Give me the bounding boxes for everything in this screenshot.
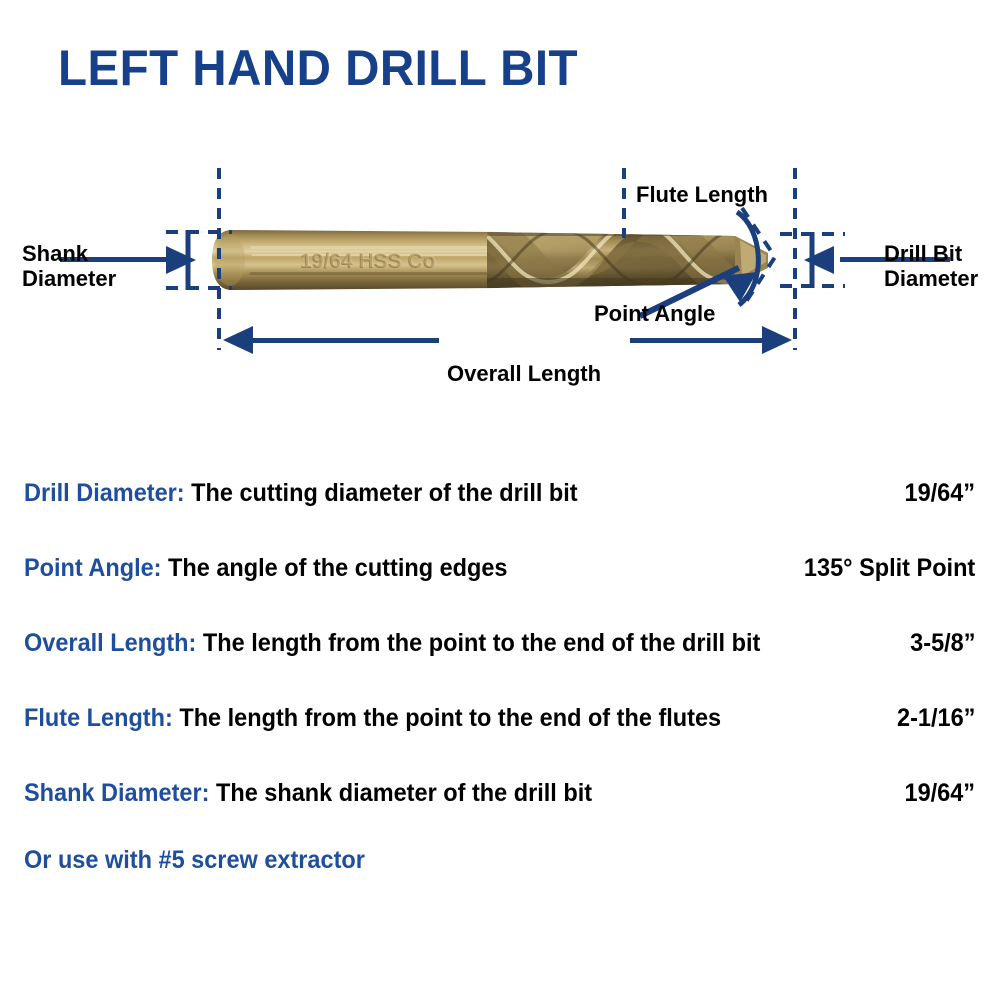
spec-text: Shank Diameter: The shank diameter of th… [24, 778, 592, 808]
spec-description: The angle of the cutting edges [168, 554, 507, 582]
spec-label: Shank Diameter: [24, 779, 209, 807]
spec-description: The length from the point to the end of … [179, 704, 721, 732]
drill-bit-diagram: 19/64 HSS Co 19/64 HSS Co [0, 150, 1000, 410]
spec-label: Overall Length: [24, 629, 196, 657]
spec-description: The cutting diameter of the drill bit [191, 479, 577, 507]
spec-text: Overall Length: The length from the poin… [24, 628, 760, 658]
label-drill-bit-diameter: Drill Bit Diameter [884, 242, 978, 291]
overall-length-arrowhead-left [223, 326, 253, 354]
drill-bit-shank: 19/64 HSS Co 19/64 HSS Co [212, 230, 502, 290]
spec-label: Point Angle: [24, 554, 162, 582]
page-title: LEFT HAND DRILL BIT [58, 40, 578, 96]
spec-row-point-angle: Point Angle: The angle of the cutting ed… [0, 530, 1000, 605]
spec-description: The shank diameter of the drill bit [216, 779, 592, 807]
label-point-angle: Point Angle [594, 302, 715, 327]
spec-text: Point Angle: The angle of the cutting ed… [24, 553, 508, 583]
spec-row-shank-diameter: Shank Diameter: The shank diameter of th… [0, 755, 1000, 830]
overall-length-arrowhead-right [762, 326, 792, 354]
spec-text: Flute Length: The length from the point … [24, 703, 721, 733]
footer-note: Or use with #5 screw extractor [24, 845, 365, 875]
spec-value: 19/64” [904, 478, 975, 508]
spec-row-flute-length: Flute Length: The length from the point … [0, 680, 1000, 755]
overall-length-line-left [239, 338, 439, 343]
spec-text: Drill Diameter: The cutting diameter of … [24, 478, 578, 508]
spec-value: 135° Split Point [804, 553, 975, 583]
spec-value: 3-5/8” [910, 628, 975, 658]
spec-list: Drill Diameter: The cutting diameter of … [0, 455, 1000, 830]
label-flute-length: Flute Length [636, 183, 768, 208]
spec-value: 2-1/16” [897, 703, 975, 733]
label-shank-diameter: Shank Diameter [22, 242, 116, 291]
shank-dia-arrowhead [166, 246, 196, 274]
spec-row-drill-diameter: Drill Diameter: The cutting diameter of … [0, 455, 1000, 530]
overall-length-line-right [630, 338, 782, 343]
spec-label: Drill Diameter: [24, 479, 185, 507]
svg-text:19/64 HSS Co: 19/64 HSS Co [301, 249, 436, 272]
spec-label: Flute Length: [24, 704, 173, 732]
label-overall-length: Overall Length [447, 362, 601, 387]
spec-value: 19/64” [904, 778, 975, 808]
spec-row-overall-length: Overall Length: The length from the poin… [0, 605, 1000, 680]
bit-dia-arrowhead [804, 246, 834, 274]
spec-description: The length from the point to the end of … [203, 629, 760, 657]
